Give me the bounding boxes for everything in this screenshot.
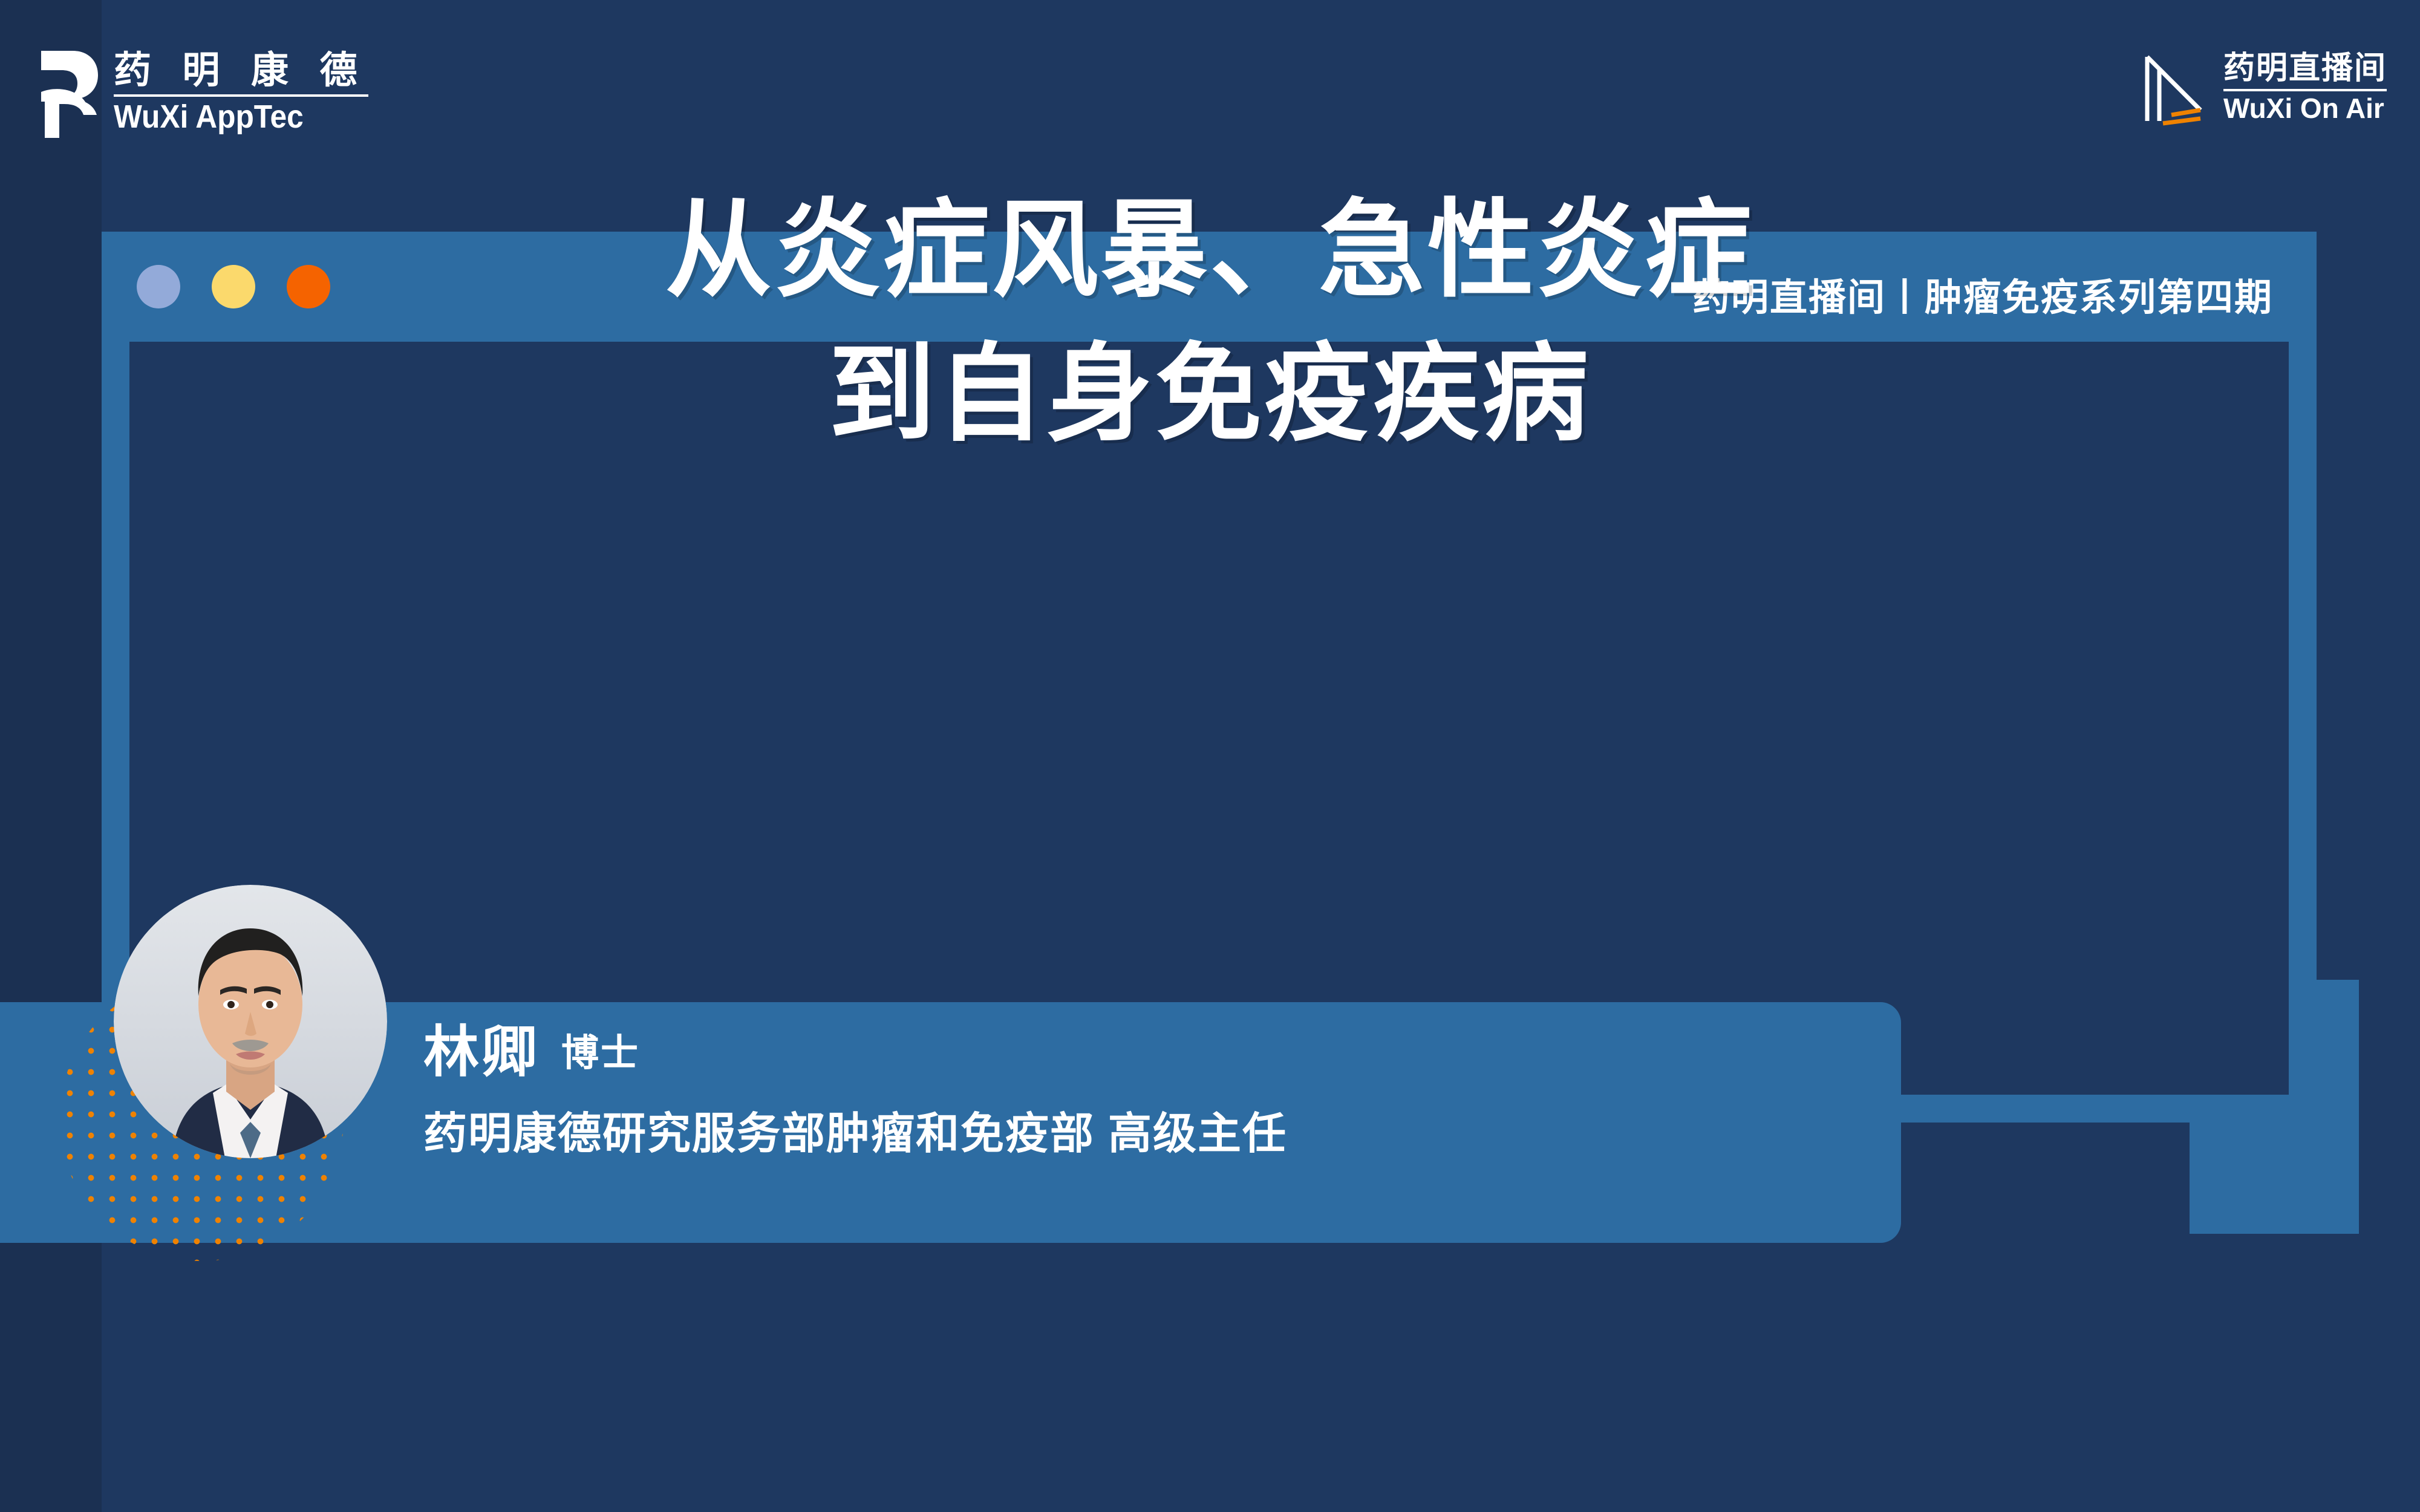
on-air-logo-cn: 药明直播间: [2223, 52, 2387, 85]
wuxi-on-air-logo: 药明直播间 WuXi On Air: [2142, 47, 2387, 127]
slide-title: 从炎症风暴、急性炎症 到自身免疫疾病: [133, 179, 2286, 466]
wuxi-on-air-play-chevron-icon: [2142, 47, 2208, 127]
speaker-portrait-photo: [114, 885, 387, 1158]
slide-title-line-2: 到自身免疫疾病: [133, 323, 2286, 467]
wuxi-logo-cn: 药 明 康 德: [114, 52, 368, 90]
speaker-name-row: 林卿 博士: [423, 1022, 1875, 1083]
slide-canvas: 药 明 康 德 WuXi AppTec 药明直播间 WuXi On Air: [0, 0, 2420, 1512]
wuxi-apptec-logo: 药 明 康 德 WuXi AppTec: [36, 47, 368, 138]
wuxi-p-mark-icon: [36, 47, 99, 138]
portrait-illustration-icon: [114, 885, 387, 1158]
on-air-logo-divider: [2223, 89, 2387, 91]
wuxi-logo-en: WuXi AppTec: [114, 100, 348, 133]
speaker-info-text: 林卿 博士 药明康德研究服务部肿瘤和免疫部 高级主任: [423, 1022, 1875, 1161]
speaker-name: 林卿: [423, 1022, 540, 1083]
on-air-logo-en: WuXi On Air: [2223, 94, 2387, 122]
slide-title-line-1: 从炎症风暴、急性炎症: [133, 179, 2286, 323]
speaker-role: 药明康德研究服务部肿瘤和免疫部 高级主任: [423, 1098, 1875, 1161]
wuxi-logo-divider: [114, 94, 368, 97]
speaker-degree: 博士: [561, 1023, 640, 1083]
bg-left-dark-block: [0, 0, 102, 1512]
